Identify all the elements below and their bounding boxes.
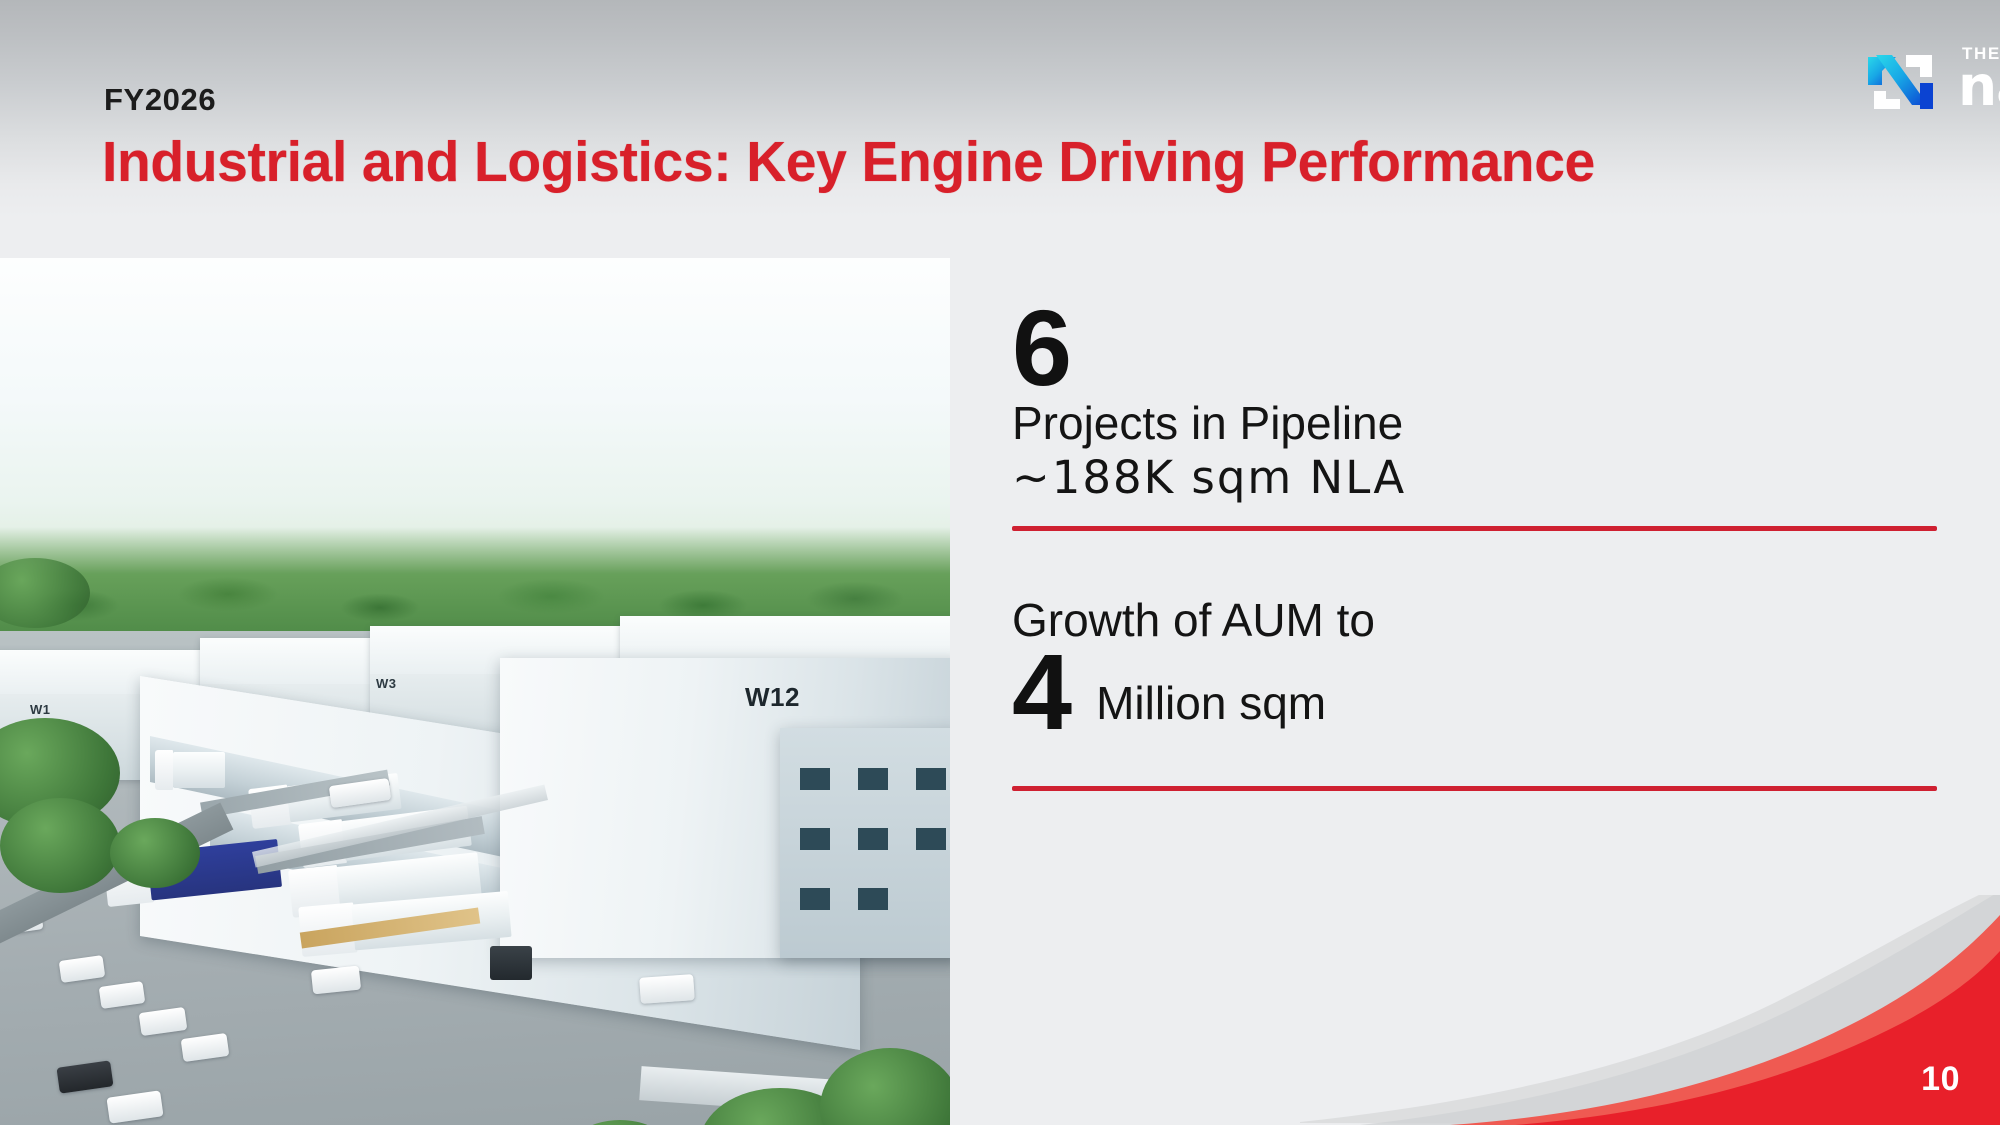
aum-value-row: 4 Million sqm [1012,648,1375,737]
slide: FY2026 Industrial and Logistics: Key Eng… [0,0,2000,1125]
box-truck [155,750,225,790]
swoosh-gray-layer [1300,895,2000,1125]
logo-nation-text: nation [1958,59,2000,114]
n-monogram-icon [1866,45,1940,111]
pipeline-nla: ~188K sqm NLA [1012,451,1406,506]
swoosh-gray-layer-2 [1360,895,2000,1125]
stat-block-pipeline: 6 Projects in Pipeline ~188K sqm NLA [1012,300,1406,506]
pipeline-project-count: 6 [1012,300,1406,395]
warehouse-label-w1: W1 [30,702,51,717]
aum-unit: Million sqm [1096,675,1326,737]
pipeline-label: Projects in Pipeline [1012,395,1406,451]
office-window-grid [800,768,950,938]
fiscal-year-label: FY2026 [104,82,216,118]
swoosh-light-red-layer [1450,915,2000,1125]
car-8 [639,974,695,1004]
divider-1 [1012,526,1937,531]
tree-left-3 [110,818,200,888]
image-sky [0,258,950,570]
aum-value: 4 [1012,648,1070,737]
swoosh-red-layer [1485,951,2000,1125]
tree-left-2 [0,798,120,893]
page-number: 10 [1921,1060,1960,1099]
page-title: Industrial and Logistics: Key Engine Dri… [102,129,1595,195]
corner-swoosh-decoration: 10 [1300,895,2000,1125]
logistics-park-image: W1 W2 W3 W12 [0,258,950,1125]
brand-logo: THE nation [1866,40,1958,116]
slide-header: FY2026 Industrial and Logistics: Key Eng… [0,0,2000,218]
stat-block-aum: Growth of AUM to 4 Million sqm [1012,592,1375,737]
warehouse-label-w3: W3 [376,676,397,691]
forklift [490,946,532,980]
car-7 [311,966,361,995]
warehouse-label-w12: W12 [745,682,800,713]
divider-2 [1012,786,1937,791]
